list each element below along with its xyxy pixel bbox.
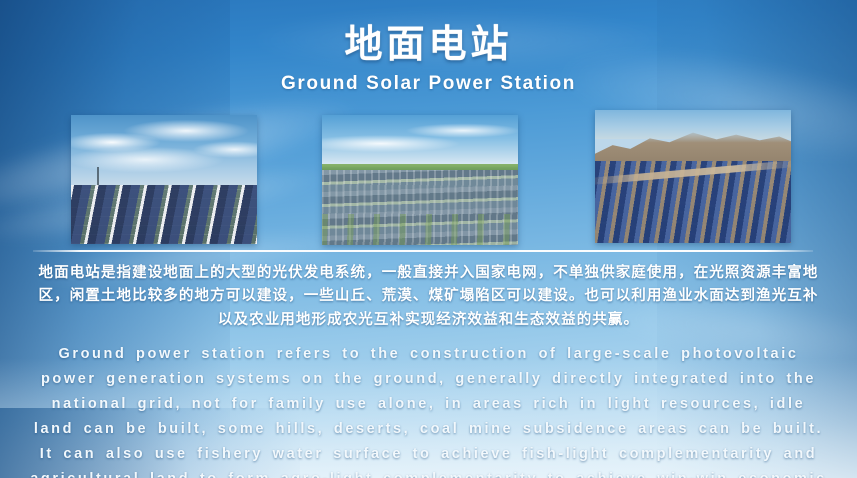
photo-solar-farm-mountain-slope bbox=[595, 110, 791, 243]
description-paragraph-cn: 地面电站是指建设地面上的大型的光伏发电系统，一般直接并入国家电网，不单独供家庭使… bbox=[36, 262, 821, 332]
photo1-solar-panels bbox=[71, 185, 257, 244]
photo2-sky bbox=[322, 115, 518, 167]
photo1-pylon-icon bbox=[97, 167, 99, 186]
photo2-grass bbox=[322, 214, 518, 245]
photo-solar-farm-flat-land bbox=[71, 115, 257, 244]
page-title-cn: 地面电站 bbox=[0, 22, 857, 67]
page-subtitle-en: Ground Solar Power Station bbox=[0, 73, 857, 95]
slide-header: 地面电站 Ground Solar Power Station bbox=[0, 22, 857, 95]
photo-gallery bbox=[0, 110, 857, 245]
section-divider bbox=[33, 250, 813, 252]
description-paragraph-en: Ground power station refers to the const… bbox=[28, 342, 829, 478]
slide-root: 地面电站 Ground Solar Power Station 地面电站是指建设… bbox=[0, 0, 857, 478]
description-block: 地面电站是指建设地面上的大型的光伏发电系统，一般直接并入国家电网，不单独供家庭使… bbox=[0, 262, 857, 478]
photo-solar-farm-aerial-green bbox=[322, 115, 518, 245]
